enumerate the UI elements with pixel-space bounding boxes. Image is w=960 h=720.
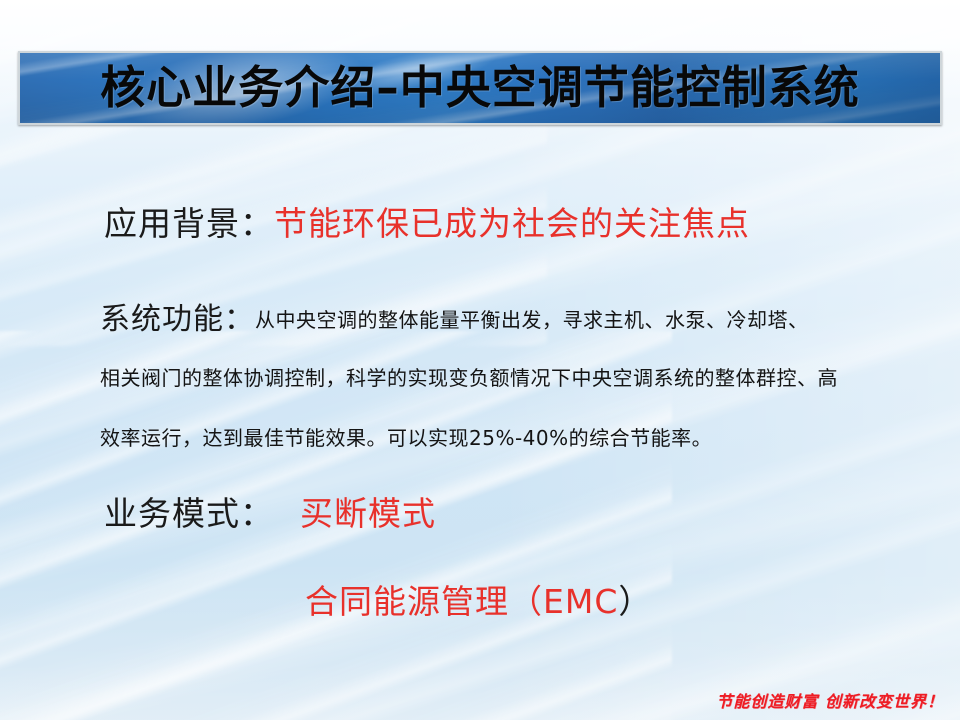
- emc-close-paren: ）: [618, 582, 652, 621]
- application-background-row: 应用背景：节能环保已成为社会的关注焦点: [104, 203, 750, 245]
- business-mode-label: 业务模式：: [104, 494, 274, 533]
- business-mode-row: 业务模式：买断模式: [104, 492, 436, 536]
- business-mode-secondary-row: 合同能源管理（EMC）: [305, 580, 652, 624]
- system-function-line-1: 从中央空调的整体能量平衡出发，寻求主机、水泵、冷却塔、: [255, 308, 809, 332]
- system-function-line-2: 相关阀门的整体协调控制，科学的实现变负额情况下中央空调系统的整体群控、高: [100, 363, 838, 393]
- slide-content: 应用背景：节能环保已成为社会的关注焦点 系统功能：从中央空调的整体能量平衡出发，…: [0, 0, 960, 720]
- business-mode-value: 买断模式: [300, 494, 436, 533]
- footer-slogan: 节能创造财富 创新改变世界！: [716, 688, 944, 712]
- slide-canvas: 核心业务介绍–中央空调节能控制系统 应用背景：节能环保已成为社会的关注焦点 系统…: [0, 0, 960, 720]
- application-background-value: 节能环保已成为社会的关注焦点: [274, 204, 750, 243]
- emc-text: 合同能源管理（EMC: [305, 582, 618, 621]
- system-function-label: 系统功能：: [100, 302, 255, 337]
- application-background-label: 应用背景：: [104, 204, 274, 243]
- system-function-row: 系统功能：从中央空调的整体能量平衡出发，寻求主机、水泵、冷却塔、: [100, 300, 809, 340]
- system-function-line-3: 效率运行，达到最佳节能效果。可以实现25%-40%的综合节能率。: [100, 423, 712, 453]
